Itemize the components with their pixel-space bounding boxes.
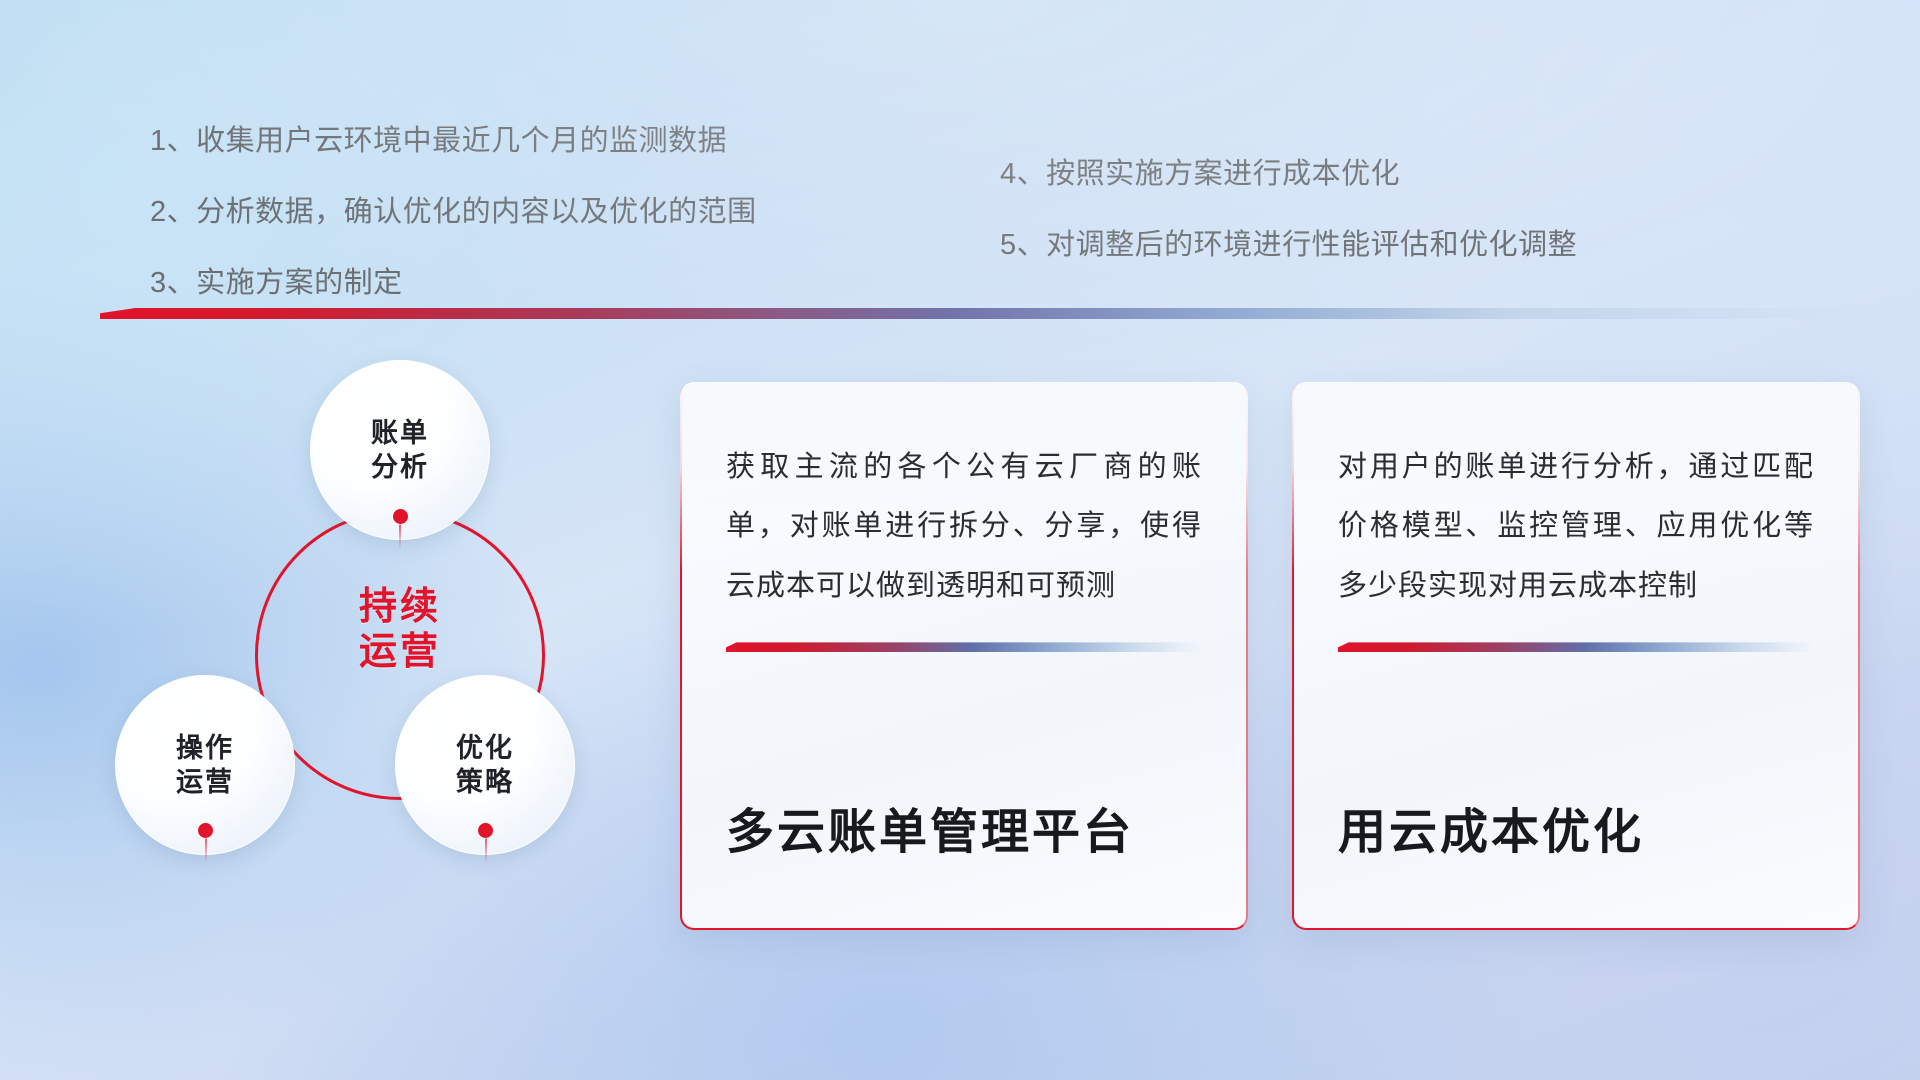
center-ring-label: 持续 运营 [255, 585, 545, 675]
feature-card-rule [726, 642, 1202, 652]
steps-list-right: 4、按照实施方案进行成本优化 5、对调整后的环境进行性能评估和优化调整 [1000, 160, 1577, 302]
node-tail-bottom-left [205, 837, 207, 863]
feature-card-body: 获取主流的各个公有云厂商的账单，对账单进行拆分、分享，使得云成本可以做到透明和可… [726, 438, 1202, 616]
center-ring-label-line1: 持续 [359, 586, 441, 628]
bubble-operations-label: 操作 运营 [176, 731, 234, 799]
feature-card-cloud-cost-optimization[interactable]: 对用户的账单进行分析，通过匹配价格模型、监控管理、应用优化等多少段实现对用云成本… [1292, 382, 1860, 930]
feature-card-multicloud-billing[interactable]: 获取主流的各个公有云厂商的账单，对账单进行拆分、分享，使得云成本可以做到透明和可… [680, 382, 1248, 930]
continuous-operation-diagram: 持续 运营 账单 分析 操作 运营 优化 策略 [95, 345, 615, 905]
node-tail-bottom-right [485, 837, 487, 863]
node-dot-top-icon [393, 509, 408, 524]
feature-card-body: 对用户的账单进行分析，通过匹配价格模型、监控管理、应用优化等多少段实现对用云成本… [1338, 438, 1814, 616]
bubble-bill-analysis-label: 账单 分析 [371, 416, 429, 484]
node-tail-top [399, 523, 401, 549]
feature-card-title: 多云账单管理平台 [726, 807, 1202, 888]
feature-card-rule [1338, 642, 1814, 652]
node-dot-bottom-right-icon [478, 823, 493, 838]
step-item-3: 3、实施方案的制定 [150, 269, 757, 298]
center-ring-label-line2: 运营 [359, 631, 441, 673]
section-divider [100, 308, 1860, 319]
bubble-optimization-strategy-label: 优化 策略 [456, 731, 514, 799]
feature-card-title: 用云成本优化 [1338, 807, 1814, 888]
step-item-4: 4、按照实施方案进行成本优化 [1000, 160, 1577, 189]
node-dot-bottom-left-icon [198, 823, 213, 838]
step-item-2: 2、分析数据，确认优化的内容以及优化的范围 [150, 198, 757, 227]
slide-canvas: 1、收集用户云环境中最近几个月的监测数据 2、分析数据，确认优化的内容以及优化的… [0, 0, 1920, 1080]
step-item-5: 5、对调整后的环境进行性能评估和优化调整 [1000, 231, 1577, 260]
step-item-1: 1、收集用户云环境中最近几个月的监测数据 [150, 127, 757, 156]
